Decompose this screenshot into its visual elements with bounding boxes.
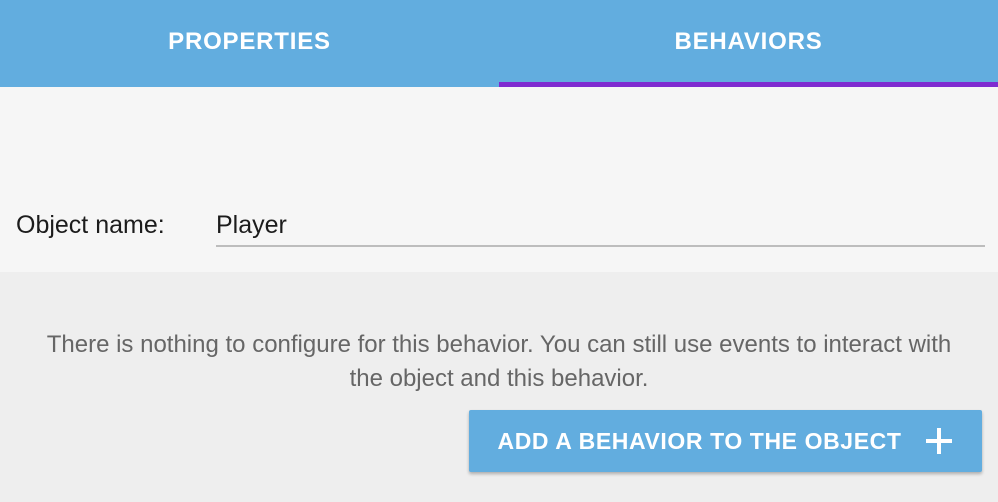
- tab-properties-label: PROPERTIES: [168, 30, 331, 58]
- behavior-content-section: There is nothing to configure for this b…: [0, 272, 998, 502]
- behavior-info-message: There is nothing to configure for this b…: [40, 328, 958, 396]
- object-name-label: Object name:: [0, 213, 216, 247]
- tab-properties[interactable]: PROPERTIES: [0, 0, 499, 87]
- add-behavior-button[interactable]: ADD A BEHAVIOR TO THE OBJECT: [469, 410, 982, 472]
- plus-icon: [924, 426, 954, 456]
- object-form-section: Object name: Player Behavior MyBehavior: [0, 87, 998, 272]
- tab-behaviors[interactable]: BEHAVIORS: [499, 0, 998, 87]
- object-name-underline: [216, 245, 985, 247]
- object-name-input[interactable]: Player: [216, 195, 998, 247]
- add-behavior-button-label: ADD A BEHAVIOR TO THE OBJECT: [498, 430, 902, 453]
- tab-bar: PROPERTIES BEHAVIORS: [0, 0, 998, 87]
- tab-behaviors-label: BEHAVIORS: [674, 30, 822, 58]
- object-name-value: Player: [216, 213, 287, 247]
- object-name-row: Object name: Player: [0, 195, 998, 247]
- behaviors-panel: PROPERTIES BEHAVIORS Object name: Player…: [0, 0, 998, 502]
